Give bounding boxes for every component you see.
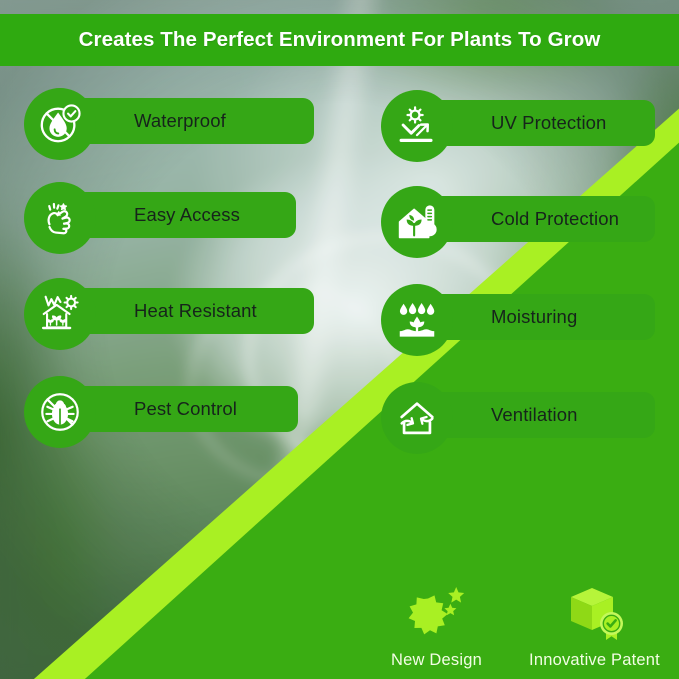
feature-label: Easy Access xyxy=(134,204,240,226)
feature-icon-badge xyxy=(24,278,96,350)
badge-icon-wrap xyxy=(398,580,476,646)
feature-label: Pest Control xyxy=(134,398,237,420)
feature-ventilation[interactable]: Ventilation xyxy=(381,382,655,454)
feature-label: Cold Protection xyxy=(491,208,619,230)
header-banner: Creates The Perfect Environment For Plan… xyxy=(0,14,679,66)
feature-uv-protection[interactable]: UV Protection xyxy=(381,90,655,162)
house-thermometer-plant-icon xyxy=(394,199,440,245)
uv-sun-rays-icon xyxy=(394,103,440,149)
infographic-canvas: Creates The Perfect Environment For Plan… xyxy=(0,0,679,679)
feature-icon-badge xyxy=(24,182,96,254)
no-bug-icon xyxy=(37,389,83,435)
feature-pest-control[interactable]: Pest Control xyxy=(24,376,298,448)
badge-label: New Design xyxy=(391,651,482,670)
feature-easy-access[interactable]: Easy Access xyxy=(24,182,296,254)
feature-icon-badge xyxy=(24,88,96,160)
feature-waterproof[interactable]: Waterproof xyxy=(24,88,314,160)
airflow-house-icon xyxy=(394,395,440,441)
water-drops-sprout-icon xyxy=(394,297,440,343)
feature-cold-protection[interactable]: Cold Protection xyxy=(381,186,655,258)
badge-new-design[interactable]: New Design xyxy=(367,580,507,670)
badge-innovative-patent[interactable]: Innovative Patent xyxy=(525,580,665,670)
feature-icon-badge xyxy=(381,186,453,258)
feature-icon-badge xyxy=(381,90,453,162)
feature-icon-badge xyxy=(381,284,453,356)
feature-label: Moisturing xyxy=(491,306,577,328)
feature-label: Heat Resistant xyxy=(134,300,257,322)
bottom-badge-row: New Design Innovative Patent xyxy=(352,565,679,670)
feature-bar: Waterproof xyxy=(58,98,314,144)
feature-label: Ventilation xyxy=(491,404,577,426)
waterproof-droplet-icon xyxy=(37,101,83,147)
feature-moisturing[interactable]: Moisturing xyxy=(381,284,655,356)
snapping-fingers-icon xyxy=(37,195,83,241)
feature-icon-badge xyxy=(24,376,96,448)
box-certificate-icon xyxy=(556,581,634,645)
page-title: Creates The Perfect Environment For Plan… xyxy=(79,28,601,52)
badge-label: Innovative Patent xyxy=(529,651,660,670)
greenhouse-sun-icon xyxy=(37,291,83,337)
starburst-sparkle-icon xyxy=(398,582,476,644)
badge-icon-wrap xyxy=(556,580,634,646)
feature-icon-badge xyxy=(381,382,453,454)
feature-bar: Heat Resistant xyxy=(58,288,314,334)
feature-heat-resistant[interactable]: Heat Resistant xyxy=(24,278,314,350)
feature-label: UV Protection xyxy=(491,112,606,134)
feature-label: Waterproof xyxy=(134,110,226,132)
